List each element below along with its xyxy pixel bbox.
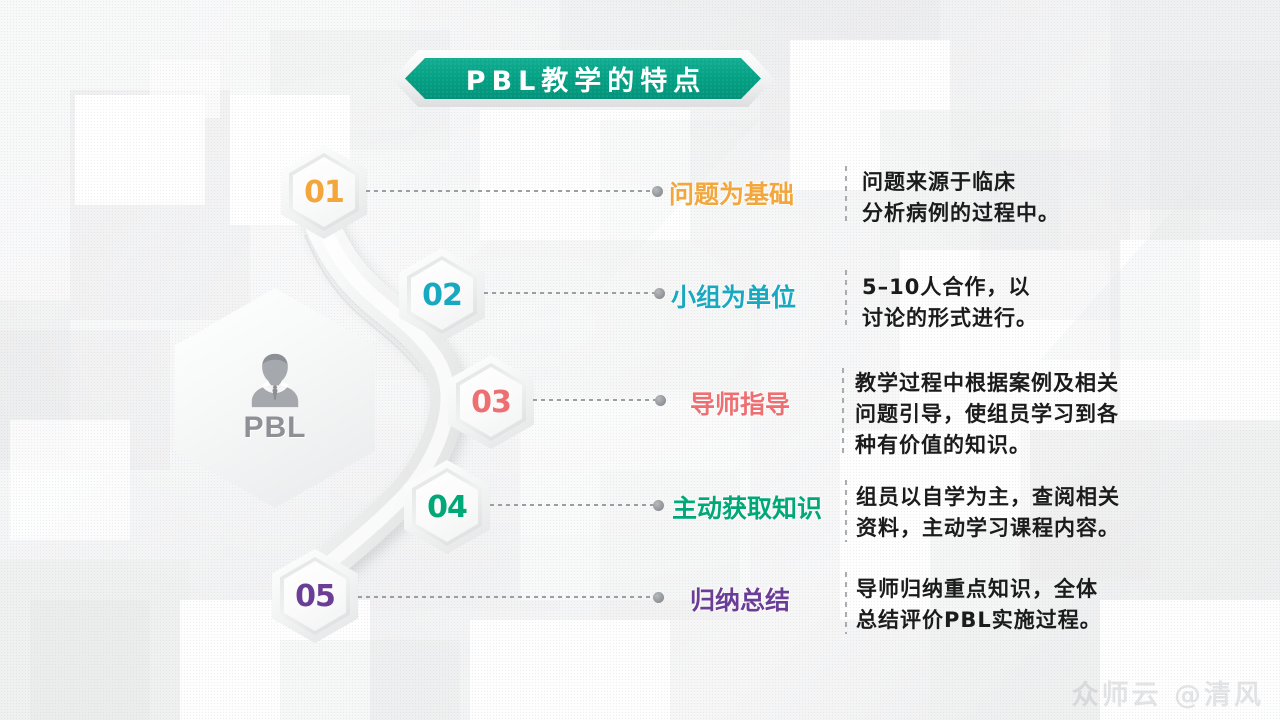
row-divider-01 <box>845 166 847 226</box>
row-divider-05 <box>845 572 847 634</box>
leader-line-04 <box>490 504 654 506</box>
row-desc-05: 导师归纳重点知识，全体 总结评价PBL实施过程。 <box>856 574 1176 636</box>
leader-dot-03 <box>655 395 666 406</box>
leader-line-02 <box>484 292 655 294</box>
row-desc-04: 组员以自学为主，查阅相关 资料，主动学习课程内容。 <box>856 482 1186 544</box>
row-desc-02: 5–10人合作，以 讨论的形式进行。 <box>862 272 1162 334</box>
banner-fill: PBL教学的特点 <box>405 58 761 99</box>
leader-dot-04 <box>653 500 664 511</box>
pbl-center-label: PBL <box>244 411 307 445</box>
row-title-01: 问题为基础 <box>669 175 794 211</box>
step-number-02: 02 <box>422 278 462 313</box>
step-number-01: 01 <box>304 175 344 210</box>
leader-dot-05 <box>653 592 664 603</box>
slide-title-banner: PBL教学的特点 <box>392 50 774 107</box>
row-title-03: 导师指导 <box>690 385 790 421</box>
leader-line-01 <box>366 190 653 192</box>
step-hexagon-03[interactable]: 03 <box>448 355 534 449</box>
leader-dot-01 <box>652 186 663 197</box>
pbl-center-hexagon: PBL <box>175 288 375 508</box>
step-number-04: 04 <box>427 490 467 525</box>
step-number-03: 03 <box>471 385 511 420</box>
leader-line-03 <box>533 399 656 401</box>
step-hexagon-02[interactable]: 02 <box>399 248 485 342</box>
leader-dot-02 <box>654 288 665 299</box>
page-title: PBL教学的特点 <box>460 59 707 98</box>
step-number-05: 05 <box>295 579 335 614</box>
watermark-label: 众师云 @清风 <box>1072 673 1264 712</box>
row-divider-04 <box>845 480 847 542</box>
row-title-05: 归纳总结 <box>690 581 790 617</box>
leader-line-05 <box>358 596 654 598</box>
row-title-04: 主动获取知识 <box>672 489 822 525</box>
slide-canvas: PBL教学的特点 <box>0 0 1280 720</box>
person-avatar-icon <box>244 351 306 409</box>
row-desc-03: 教学过程中根据案例及相关 问题引导，使组员学习到各 种有价值的知识。 <box>855 368 1185 461</box>
row-divider-02 <box>845 270 847 330</box>
step-hexagon-05[interactable]: 05 <box>272 549 358 643</box>
step-hexagon-01[interactable]: 01 <box>281 145 367 239</box>
row-title-02: 小组为单位 <box>671 278 796 314</box>
row-desc-01: 问题来源于临床 分析病例的过程中。 <box>862 167 1162 229</box>
row-divider-03 <box>842 368 844 458</box>
step-hexagon-04[interactable]: 04 <box>404 460 490 554</box>
